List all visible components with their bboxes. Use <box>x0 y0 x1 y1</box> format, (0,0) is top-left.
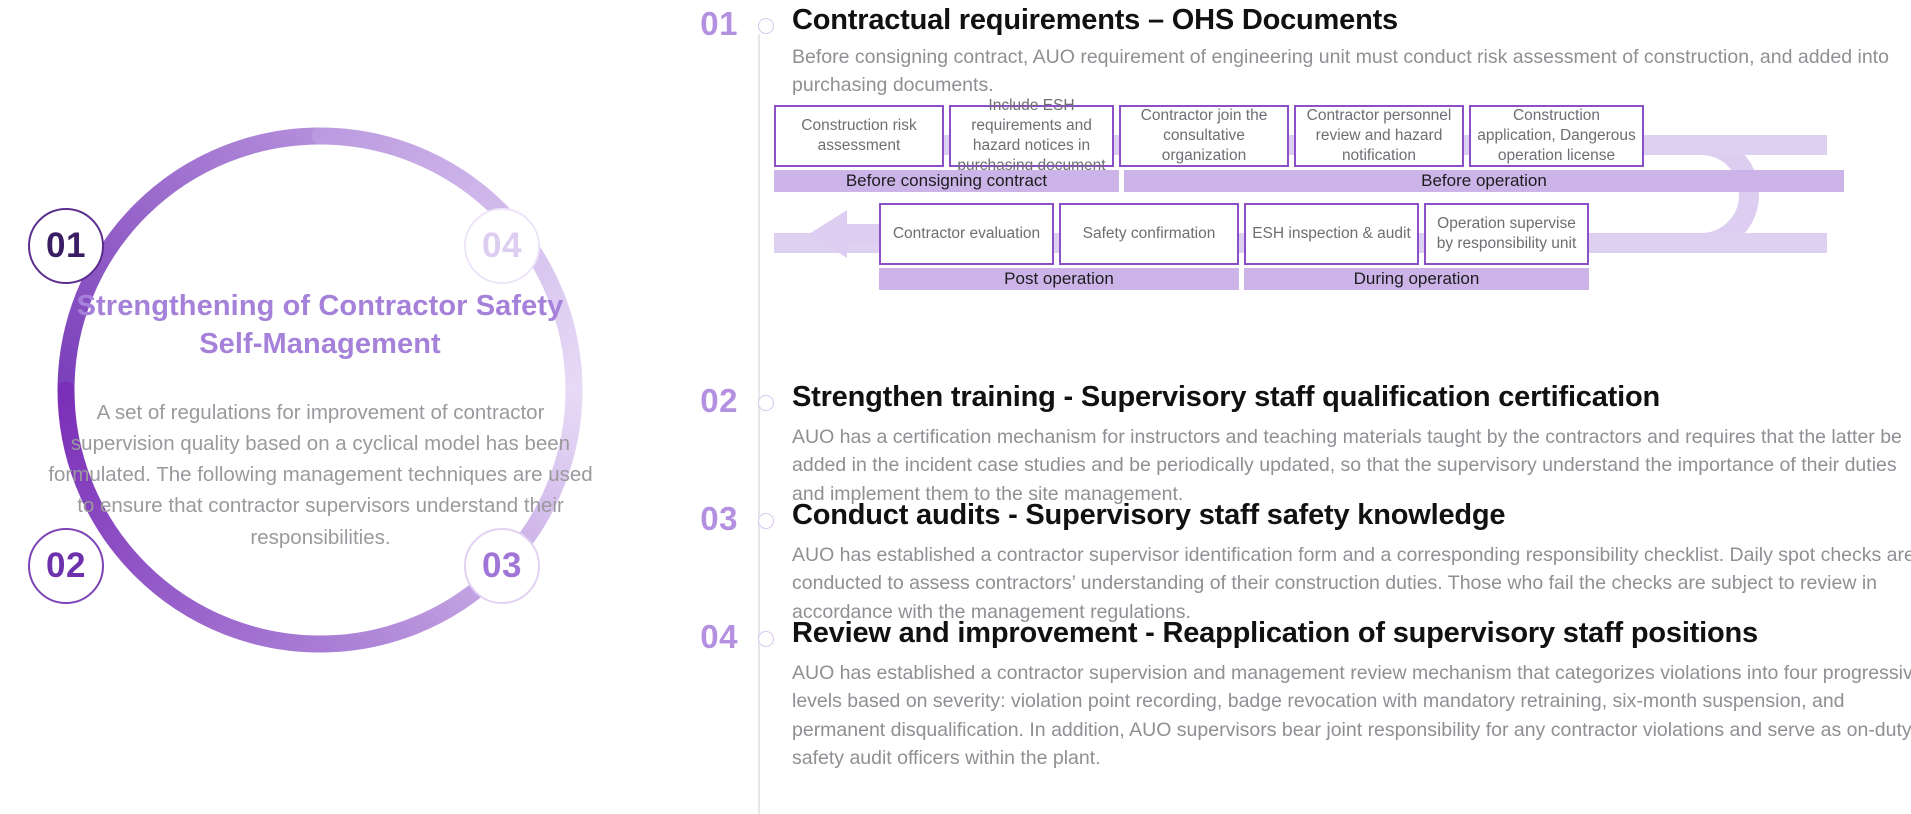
bullet-ring-icon <box>758 18 774 34</box>
flow-box-operation-supervise[interactable]: Operation supervise by responsibility un… <box>1424 203 1589 265</box>
section-01-title: Contractual requirements – OHS Documents <box>792 4 1398 37</box>
flow-return-loop <box>1629 98 1779 293</box>
section-02-body: AUO has a certification mechanism for in… <box>792 423 1911 508</box>
flow-box-construction-risk-assessment[interactable]: Construction risk assessment <box>774 105 944 167</box>
flow-box-consultative-organization[interactable]: Contractor join the consultative organiz… <box>1119 105 1289 167</box>
flow-band-post-operation: Post operation <box>879 268 1239 290</box>
bullet-ring-icon <box>758 513 774 529</box>
section-01-number: 01 <box>674 5 738 43</box>
section-04-number: 04 <box>674 618 738 656</box>
section-04-body: AUO has established a contractor supervi… <box>792 659 1911 772</box>
section-02-title: Strengthen training - Supervisory staff … <box>792 381 1660 414</box>
flow-box-esh-inspection-audit[interactable]: ESH inspection & audit <box>1244 203 1419 265</box>
sections-panel: 01 Contractual requirements – OHS Docume… <box>0 0 1911 814</box>
flow-band-before-consigning-contract: Before consigning contract <box>774 170 1119 192</box>
infographic-page: 01 02 03 04 Strengthening of Contractor … <box>0 0 1911 814</box>
section-03-body: AUO has established a contractor supervi… <box>792 541 1911 626</box>
flow-box-contractor-evaluation[interactable]: Contractor evaluation <box>879 203 1054 265</box>
section-02-number: 02 <box>674 382 738 420</box>
process-flow-diagram: Construction risk assessment Include ESH… <box>774 98 1911 293</box>
section-03-title: Conduct audits - Supervisory staff safet… <box>792 499 1505 532</box>
flow-box-esh-requirements[interactable]: Include ESH requirements and hazard noti… <box>949 105 1114 167</box>
flow-box-safety-confirmation[interactable]: Safety confirmation <box>1059 203 1239 265</box>
section-04-title: Review and improvement - Reapplication o… <box>792 617 1758 650</box>
section-01-body: Before consigning contract, AUO requirem… <box>792 43 1911 100</box>
bullet-ring-icon <box>758 395 774 411</box>
bullet-ring-icon <box>758 631 774 647</box>
flow-box-personnel-review[interactable]: Contractor personnel review and hazard n… <box>1294 105 1464 167</box>
section-03-number: 03 <box>674 500 738 538</box>
flow-band-before-operation: Before operation <box>1124 170 1844 192</box>
flow-arrow-head-icon <box>809 206 889 262</box>
flow-box-construction-application[interactable]: Construction application, Dangerous oper… <box>1469 105 1644 167</box>
flow-band-during-operation: During operation <box>1244 268 1589 290</box>
